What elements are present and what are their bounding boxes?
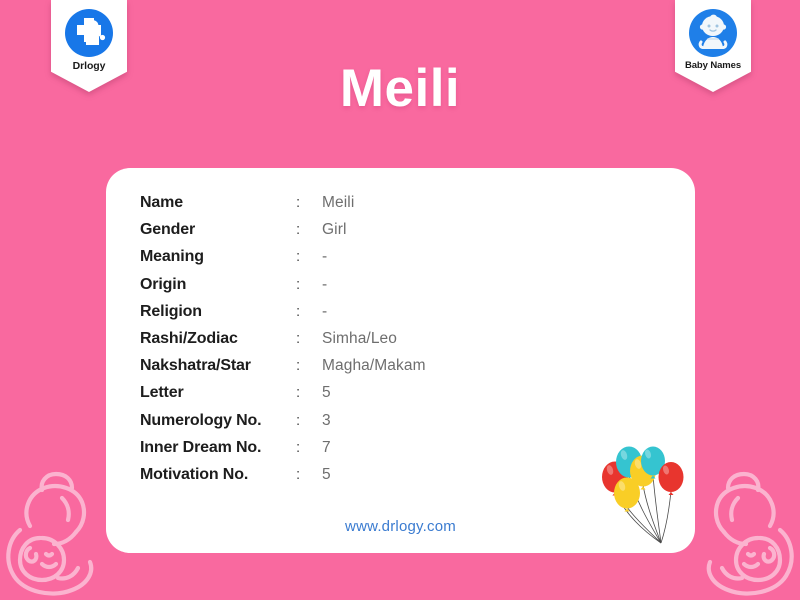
row-label: Meaning [140,248,296,266]
row-separator: : [296,357,322,374]
row-value: - [322,303,560,321]
row-value: 7 [322,439,560,457]
balloons-icon [597,445,689,553]
name-details-table: Name : Meili Gender : Girl Meaning : - O… [140,194,560,493]
table-row: Rashi/Zodiac : Simha/Leo [140,330,560,357]
row-separator: : [296,384,322,401]
row-label: Name [140,194,296,212]
row-value: - [322,248,560,266]
row-label: Nakshatra/Star [140,357,296,375]
row-separator: : [296,194,322,211]
row-value: - [322,276,560,294]
row-separator: : [296,276,322,293]
row-value: 5 [322,466,560,484]
row-separator: : [296,303,322,320]
row-separator: : [296,248,322,265]
row-value: Simha/Leo [322,330,560,348]
row-separator: : [296,466,322,483]
row-label: Rashi/Zodiac [140,330,296,348]
row-separator: : [296,412,322,429]
mother-and-baby-icon [0,468,108,600]
website-url[interactable]: www.drlogy.com [106,518,695,535]
row-label: Religion [140,303,296,321]
table-row: Letter : 5 [140,384,560,411]
table-row: Origin : - [140,276,560,303]
poster-canvas: Drlogy Baby Names [0,0,800,600]
row-label: Inner Dream No. [140,439,296,457]
row-label: Origin [140,276,296,294]
baby-icon [689,9,737,57]
row-separator: : [296,330,322,347]
table-row: Name : Meili [140,194,560,221]
table-row: Religion : - [140,303,560,330]
row-value: 5 [322,384,560,402]
name-details-card: Name : Meili Gender : Girl Meaning : - O… [106,168,695,553]
table-row: Meaning : - [140,248,560,275]
table-row: Inner Dream No. : 7 [140,439,560,466]
row-label: Letter [140,384,296,402]
row-label: Numerology No. [140,412,296,430]
row-value: Meili [322,194,560,212]
page-title: Meili [0,58,800,119]
row-separator: : [296,439,322,456]
table-row: Motivation No. : 5 [140,466,560,493]
table-row: Nakshatra/Star : Magha/Makam [140,357,560,384]
row-value: Magha/Makam [322,357,560,375]
row-separator: : [296,221,322,238]
row-label: Gender [140,221,296,239]
row-value: 3 [322,412,560,430]
doctor-medical-cross-icon [65,9,113,57]
row-value: Girl [322,221,560,239]
table-row: Numerology No. : 3 [140,412,560,439]
row-label: Motivation No. [140,466,296,484]
table-row: Gender : Girl [140,221,560,248]
mother-and-baby-icon [692,468,800,600]
